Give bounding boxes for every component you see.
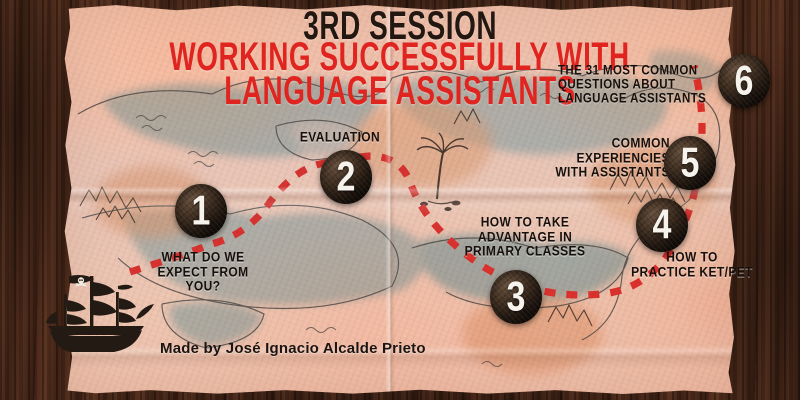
station-label-6: THE 31 MOST COMMON QUESTIONS ABOUT LANGU… [558,64,728,106]
station-number-3: 3 [507,273,526,321]
station-marker-1[interactable]: 1 [175,184,227,238]
palm-tree-icon [417,133,468,211]
station-label-3: HOW TO TAKE ADVANTAGE IN PRIMARY CLASSES [440,215,610,259]
credit-text: Made by José Ignacio Alcalde Prieto [160,340,426,357]
station-6-line-3: LANGUAGE ASSISTANTS [558,91,728,108]
poster-canvas: 3RD SESSION WORKING SUCCESSFULLY WITH LA… [0,0,800,400]
pirate-ship-icon [36,268,156,360]
station-3-line-3: PRIMARY CLASSES [440,243,610,260]
station-number-5: 5 [681,139,700,187]
station-4-line-2: PRACTICE KET/PET [612,263,772,280]
station-1-line-3: YOU? [148,278,258,295]
station-number-4: 4 [653,201,672,249]
station-label-5: COMMON EXPERIENCIES WITH ASSISTANTS [540,136,670,180]
station-2-line-1: EVALUATION [285,129,395,146]
station-number-1: 1 [192,187,211,235]
station-label-2: EVALUATION [285,130,395,145]
station-label-1: WHAT DO WE EXPECT FROM YOU? [148,250,258,294]
title-main-line2: LANGUAGE ASSISTANTS [224,72,576,113]
station-number-2: 2 [337,153,356,201]
station-marker-2[interactable]: 2 [320,150,372,204]
station-marker-6[interactable]: 6 [718,54,770,108]
station-marker-4[interactable]: 4 [636,198,688,252]
station-marker-3[interactable]: 3 [490,270,542,324]
station-marker-5[interactable]: 5 [664,136,716,190]
station-5-line-3: WITH ASSISTANTS [540,164,670,181]
station-number-6: 6 [735,57,754,105]
station-label-4: HOW TO PRACTICE KET/PET [612,250,772,279]
